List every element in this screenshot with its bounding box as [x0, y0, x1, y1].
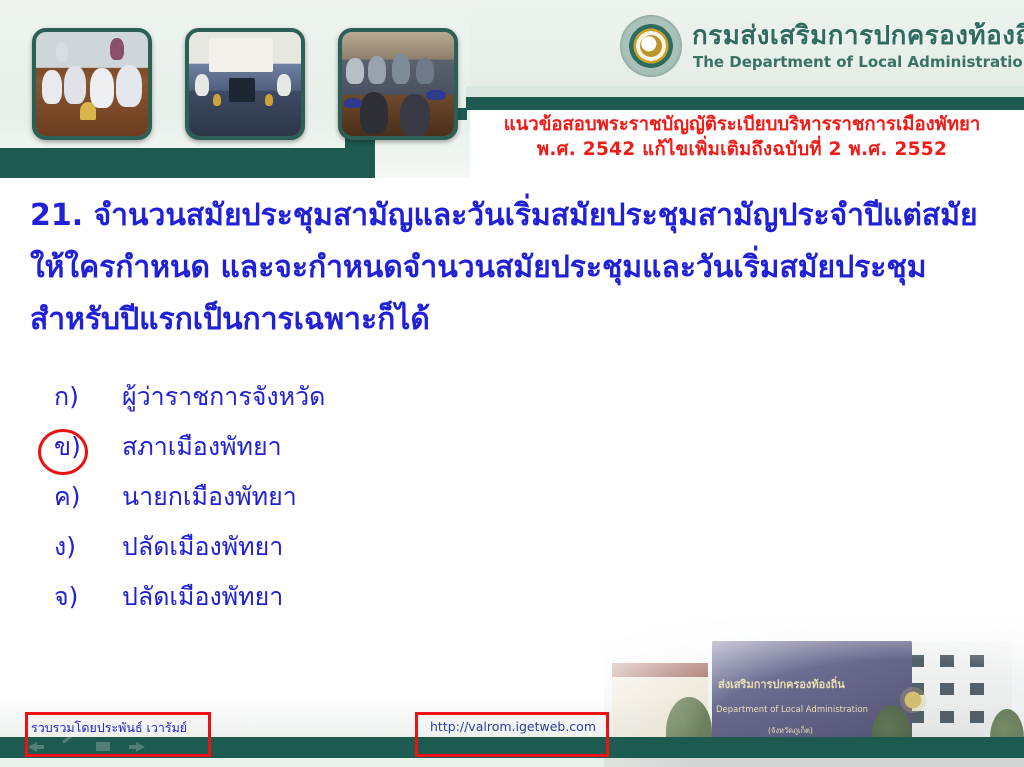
org-name-th: กรมส่งเสริมการปกครองท้องถิ่น — [692, 15, 1024, 56]
header-photo-3 — [338, 28, 458, 140]
header-photo-1 — [32, 28, 152, 140]
choice-item-kho-khwai[interactable]: ค) นายกเมืองพัทยา — [48, 472, 748, 522]
credit-text: รวบรวมโดยประพันธ์ เวารัมย์ — [31, 718, 201, 738]
exam-title: แนวข้อสอบพระราชบัญญัติระเบียบบริหารราชกา… — [466, 112, 1018, 162]
exam-title-line-1: แนวข้อสอบพระราชบัญญัติระเบียบบริหารราชกา… — [466, 112, 1018, 137]
source-url[interactable]: http://valrom.igetweb.com — [430, 719, 605, 734]
header-band-right — [466, 97, 1024, 110]
choice-key-kho: ข) — [48, 427, 114, 467]
org-name-en: The Department of Local Administration — [693, 53, 1024, 71]
header-photo-2-image — [189, 32, 301, 136]
header-photo-2 — [185, 28, 305, 140]
choice-key-ngo: ง) — [48, 527, 114, 567]
header-photo-1-image — [36, 32, 148, 136]
choice-key-cho: จ) — [48, 577, 114, 617]
choice-text-ngo: ปลัดเมืองพัทยา — [114, 527, 283, 567]
building-sign-text-sub: (จังหวัดภูเก็ต) — [768, 725, 813, 737]
choice-text-kho-khwai: นายกเมืองพัทยา — [114, 477, 297, 517]
correct-answer-circle-icon — [38, 429, 88, 475]
choice-key-kho-khwai: ค) — [48, 477, 114, 517]
question-text: 21. จำนวนสมัยประชุมสามัญและวันเริ่มสมัยป… — [30, 190, 996, 346]
department-logo: กรมส่งเสริมการปกครองท้องถิ่น The Departm… — [620, 13, 1010, 85]
exam-title-line-2: พ.ศ. 2542 แก้ไขเพิ่มเติมถึงฉบับที่ 2 พ.ศ… — [466, 137, 1018, 162]
garuda-emblem-icon — [620, 15, 682, 77]
choice-item-ngo[interactable]: ง) ปลัดเมืองพัทยา — [48, 522, 748, 572]
header-band-left — [0, 148, 375, 178]
choice-item-kho[interactable]: ข) สภาเมืองพัทยา — [48, 422, 748, 472]
choice-text-kho: สภาเมืองพัทยา — [114, 427, 282, 467]
header-band-soft — [466, 86, 1024, 97]
choice-list: ก) ผู้ว่าราชการจังหวัด ข) สภาเมืองพัทยา … — [48, 372, 748, 622]
choice-key-ka: ก) — [48, 377, 114, 417]
choice-text-ka: ผู้ว่าราชการจังหวัด — [114, 377, 325, 417]
slide-canvas: กรมส่งเสริมการปกครองท้องถิ่น The Departm… — [0, 0, 1024, 767]
header-photo-3-image — [342, 32, 454, 136]
choice-item-ka[interactable]: ก) ผู้ว่าราชการจังหวัด — [48, 372, 748, 422]
building-sign-text-th: ส่งเสริมการปกครองท้องถิ่น — [718, 675, 908, 693]
choice-text-cho: ปลัดเมืองพัทยา — [114, 577, 283, 617]
